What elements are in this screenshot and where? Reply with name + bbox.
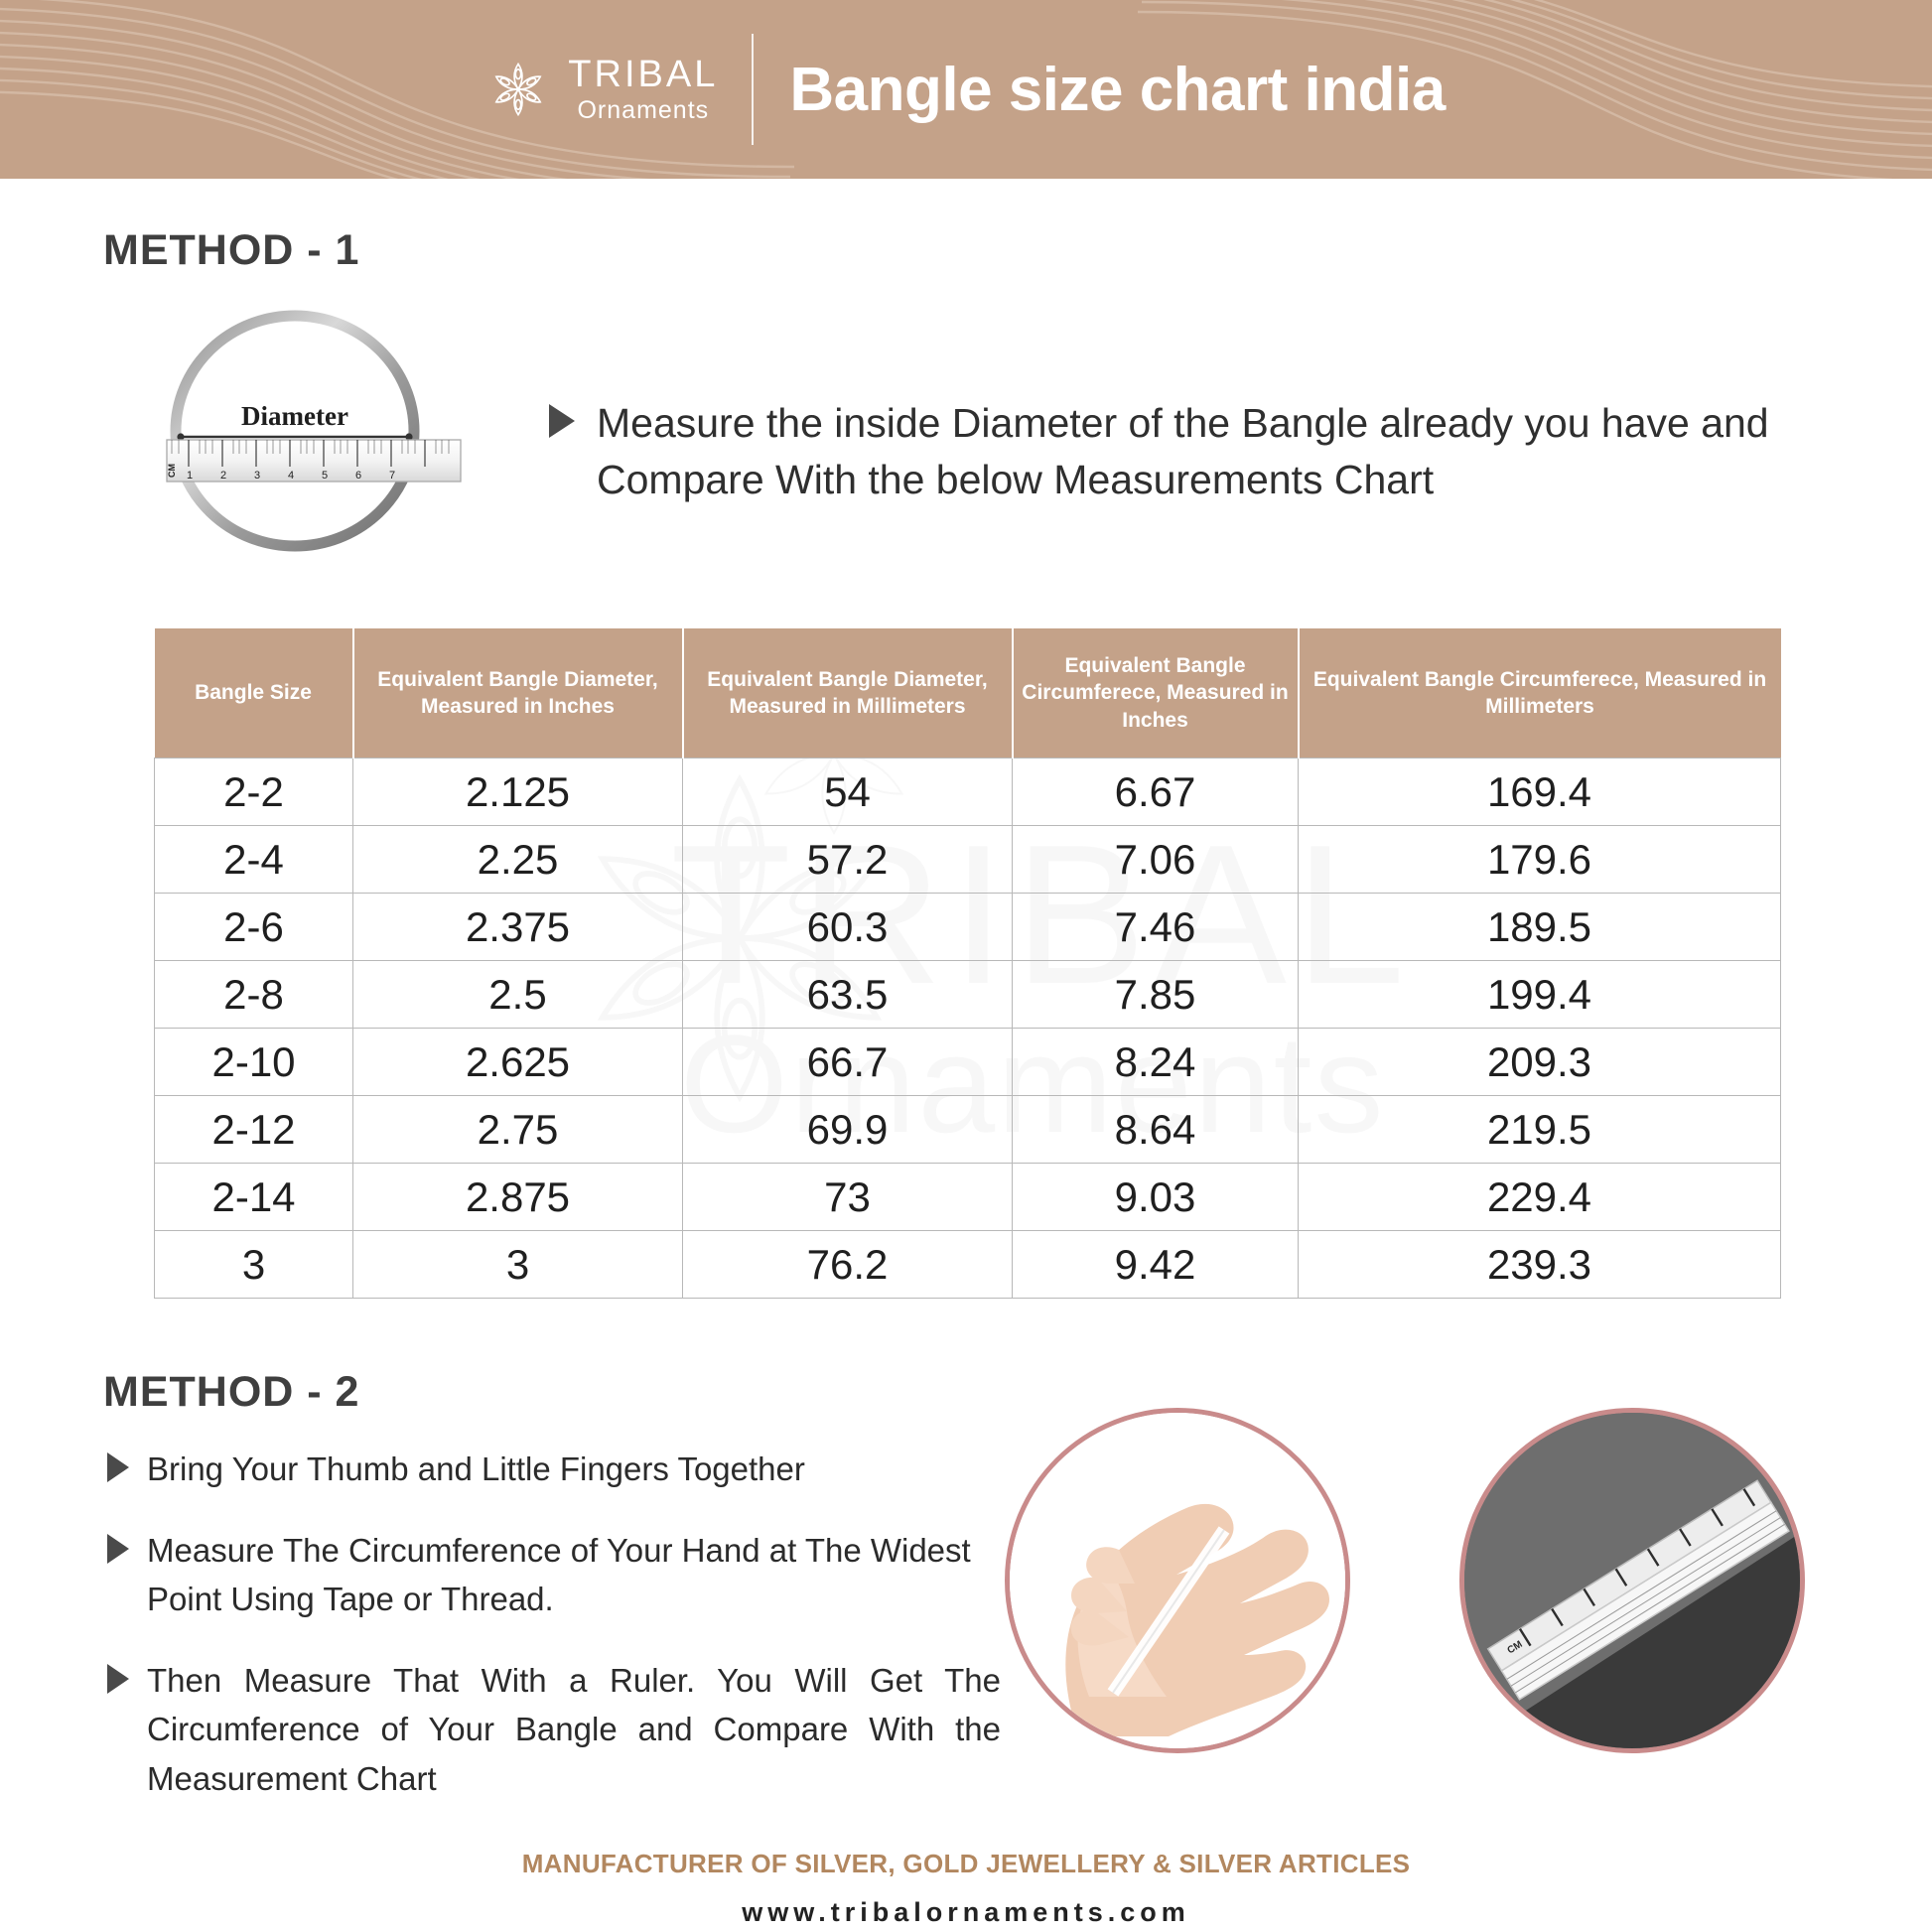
method-2-bullet-list: Bring Your Thumb and Little Fingers Toge… xyxy=(107,1445,1001,1835)
svg-text:7: 7 xyxy=(389,470,395,482)
cell-diameter-in: 2.75 xyxy=(353,1096,683,1164)
cell-circumf-in: 8.64 xyxy=(1013,1096,1299,1164)
method-2-bullet-3-text: Then Measure That With a Ruler. You Will… xyxy=(147,1656,1001,1804)
col-header-bangle-size: Bangle Size xyxy=(155,628,353,759)
cell-diameter-mm: 76.2 xyxy=(683,1231,1013,1299)
table-row: 2-2 2.125 54 6.67 169.4 xyxy=(155,759,1781,826)
svg-text:CM: CM xyxy=(167,464,177,478)
brand-name-secondary: Ornaments xyxy=(577,98,709,123)
cell-diameter-in: 2.875 xyxy=(353,1164,683,1231)
cell-diameter-in: 2.25 xyxy=(353,826,683,894)
cell-circumf-in: 9.03 xyxy=(1013,1164,1299,1231)
table-row: 2-12 2.75 69.9 8.64 219.5 xyxy=(155,1096,1781,1164)
cell-size: 2-10 xyxy=(155,1029,353,1096)
table-row: 2-6 2.375 60.3 7.46 189.5 xyxy=(155,894,1781,961)
cell-size: 2-8 xyxy=(155,961,353,1029)
cell-circumf-mm: 239.3 xyxy=(1299,1231,1781,1299)
method-2-bullet-2-text: Measure The Circumference of Your Hand a… xyxy=(147,1526,1001,1624)
diameter-label: Diameter xyxy=(241,401,348,431)
cell-diameter-in: 2.375 xyxy=(353,894,683,961)
table-row: 2-4 2.25 57.2 7.06 179.6 xyxy=(155,826,1781,894)
page-title: Bangle size chart india xyxy=(754,55,1445,125)
svg-text:6: 6 xyxy=(355,470,361,482)
col-header-circumf-in: Equivalent Bangle Circumferece, Measured… xyxy=(1013,628,1299,759)
triangle-bullet-icon xyxy=(107,1664,129,1694)
bangle-size-table: Bangle Size Equivalent Bangle Diameter, … xyxy=(154,628,1781,1299)
svg-text:5: 5 xyxy=(322,470,328,482)
svg-text:1: 1 xyxy=(187,470,193,482)
cell-circumf-mm: 229.4 xyxy=(1299,1164,1781,1231)
page-footer: MANUFACTURER OF SILVER, GOLD JEWELLERY &… xyxy=(0,1849,1932,1928)
cell-circumf-mm: 179.6 xyxy=(1299,826,1781,894)
cell-diameter-in: 2.625 xyxy=(353,1029,683,1096)
col-header-circumf-mm: Equivalent Bangle Circumferece, Measured… xyxy=(1299,628,1781,759)
table-header-row: Bangle Size Equivalent Bangle Diameter, … xyxy=(155,628,1781,759)
svg-text:4: 4 xyxy=(288,470,294,482)
table-row: 2-10 2.625 66.7 8.24 209.3 xyxy=(155,1029,1781,1096)
triangle-bullet-icon xyxy=(549,404,575,438)
ruler-illustration: CM xyxy=(1464,1413,1802,1750)
col-header-diameter-mm: Equivalent Bangle Diameter, Measured in … xyxy=(683,628,1013,759)
cell-circumf-in: 7.85 xyxy=(1013,961,1299,1029)
col-header-diameter-in: Equivalent Bangle Diameter, Measured in … xyxy=(353,628,683,759)
svg-text:3: 3 xyxy=(254,470,260,482)
cell-size: 2-2 xyxy=(155,759,353,826)
brand-logo: TRIBAL Ornaments xyxy=(486,54,752,125)
hand-measuring-photo xyxy=(1005,1408,1350,1753)
cell-size: 2-12 xyxy=(155,1096,353,1164)
cell-diameter-mm: 63.5 xyxy=(683,961,1013,1029)
footer-tagline: MANUFACTURER OF SILVER, GOLD JEWELLERY &… xyxy=(0,1849,1932,1879)
table-row: 2-8 2.5 63.5 7.85 199.4 xyxy=(155,961,1781,1029)
cell-size: 2-4 xyxy=(155,826,353,894)
triangle-bullet-icon xyxy=(107,1452,129,1482)
method-2-heading: METHOD - 2 xyxy=(103,1368,359,1417)
ruler-photo: CM xyxy=(1459,1408,1805,1753)
method-2-bullet-2: Measure The Circumference of Your Hand a… xyxy=(107,1526,1001,1624)
cell-circumf-mm: 169.4 xyxy=(1299,759,1781,826)
table-row: 2-14 2.875 73 9.03 229.4 xyxy=(155,1164,1781,1231)
cell-diameter-in: 2.125 xyxy=(353,759,683,826)
table-row: 3 3 76.2 9.42 239.3 xyxy=(155,1231,1781,1299)
cell-size: 2-6 xyxy=(155,894,353,961)
cell-circumf-mm: 199.4 xyxy=(1299,961,1781,1029)
cell-diameter-mm: 60.3 xyxy=(683,894,1013,961)
method-2-bullet-1: Bring Your Thumb and Little Fingers Toge… xyxy=(107,1445,1001,1494)
cell-circumf-in: 9.42 xyxy=(1013,1231,1299,1299)
hand-illustration xyxy=(1010,1413,1347,1750)
cell-diameter-mm: 66.7 xyxy=(683,1029,1013,1096)
cell-circumf-mm: 219.5 xyxy=(1299,1096,1781,1164)
cell-diameter-mm: 69.9 xyxy=(683,1096,1013,1164)
cell-circumf-mm: 189.5 xyxy=(1299,894,1781,961)
cell-circumf-mm: 209.3 xyxy=(1299,1029,1781,1096)
cell-diameter-mm: 73 xyxy=(683,1164,1013,1231)
bangle-size-table-wrapper: Bangle Size Equivalent Bangle Diameter, … xyxy=(154,628,1780,1299)
footer-website[interactable]: www.tribalornaments.com xyxy=(0,1897,1932,1928)
cell-diameter-mm: 54 xyxy=(683,759,1013,826)
cell-diameter-mm: 57.2 xyxy=(683,826,1013,894)
triangle-bullet-icon xyxy=(107,1534,129,1564)
method-1-bullet: Measure the inside Diameter of the Bangl… xyxy=(549,395,1790,507)
cell-circumf-in: 7.46 xyxy=(1013,894,1299,961)
page-header: TRIBAL Ornaments Bangle size chart india xyxy=(0,0,1932,179)
method-2-bullet-1-text: Bring Your Thumb and Little Fingers Toge… xyxy=(147,1445,805,1494)
cell-diameter-in: 2.5 xyxy=(353,961,683,1029)
cell-circumf-in: 7.06 xyxy=(1013,826,1299,894)
cell-size: 2-14 xyxy=(155,1164,353,1231)
method-1-bullet-text: Measure the inside Diameter of the Bangl… xyxy=(597,395,1790,507)
bangle-diameter-diagram: Diameter CM 123 456 7 xyxy=(159,310,467,558)
method-2-bullet-3: Then Measure That With a Ruler. You Will… xyxy=(107,1656,1001,1804)
cell-circumf-in: 6.67 xyxy=(1013,759,1299,826)
cell-diameter-in: 3 xyxy=(353,1231,683,1299)
svg-text:2: 2 xyxy=(220,470,226,482)
cell-size: 3 xyxy=(155,1231,353,1299)
cell-circumf-in: 8.24 xyxy=(1013,1029,1299,1096)
method-1-heading: METHOD - 1 xyxy=(103,226,359,275)
brand-name-primary: TRIBAL xyxy=(568,56,718,93)
flower-mandala-icon xyxy=(486,54,550,125)
